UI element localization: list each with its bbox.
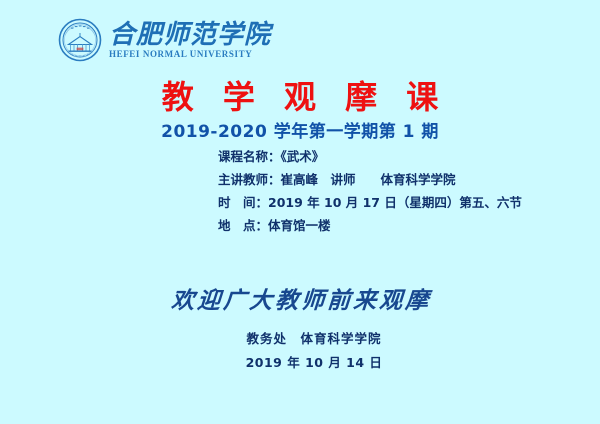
poster-footer: 教务处 体育科学学院 2019 年 10 月 14 日 xyxy=(0,328,600,371)
footer-departments: 教务处 体育科学学院 xyxy=(218,328,381,347)
welcome-calligraphy: 欢迎广大教师前来观摩 xyxy=(0,281,600,315)
poster-canvas: 合肥师范学院 HEFEI NORMAL UNIVERSITY 教 学 观 摩 课… xyxy=(0,0,600,424)
university-masthead: 合肥师范学院 HEFEI NORMAL UNIVERSITY xyxy=(58,18,271,62)
university-name-cn: 合肥师范学院 xyxy=(109,22,271,48)
detail-time: 时 间：2019 年 10 月 17 日（星期四）第五、六节 xyxy=(218,192,522,213)
university-name-en: HEFEI NORMAL UNIVERSITY xyxy=(109,50,252,59)
university-wordmark: 合肥师范学院 HEFEI NORMAL UNIVERSITY xyxy=(109,22,271,59)
detail-instructor: 主讲教师：崔高峰 讲师 体育科学学院 xyxy=(218,169,522,190)
poster-term-subtitle: 2019-2020 学年第一学期第 1 期 xyxy=(0,117,600,142)
event-details: 课程名称：《武术》 主讲教师：崔高峰 讲师 体育科学学院 时 间：2019 年 … xyxy=(218,146,522,236)
university-seal-icon xyxy=(58,18,102,62)
poster-main-title: 教 学 观 摩 课 xyxy=(0,72,600,118)
detail-course-name: 课程名称：《武术》 xyxy=(218,146,522,167)
detail-location: 地 点：体育馆一楼 xyxy=(218,215,522,236)
footer-date: 2019 年 10 月 14 日 xyxy=(218,352,383,371)
